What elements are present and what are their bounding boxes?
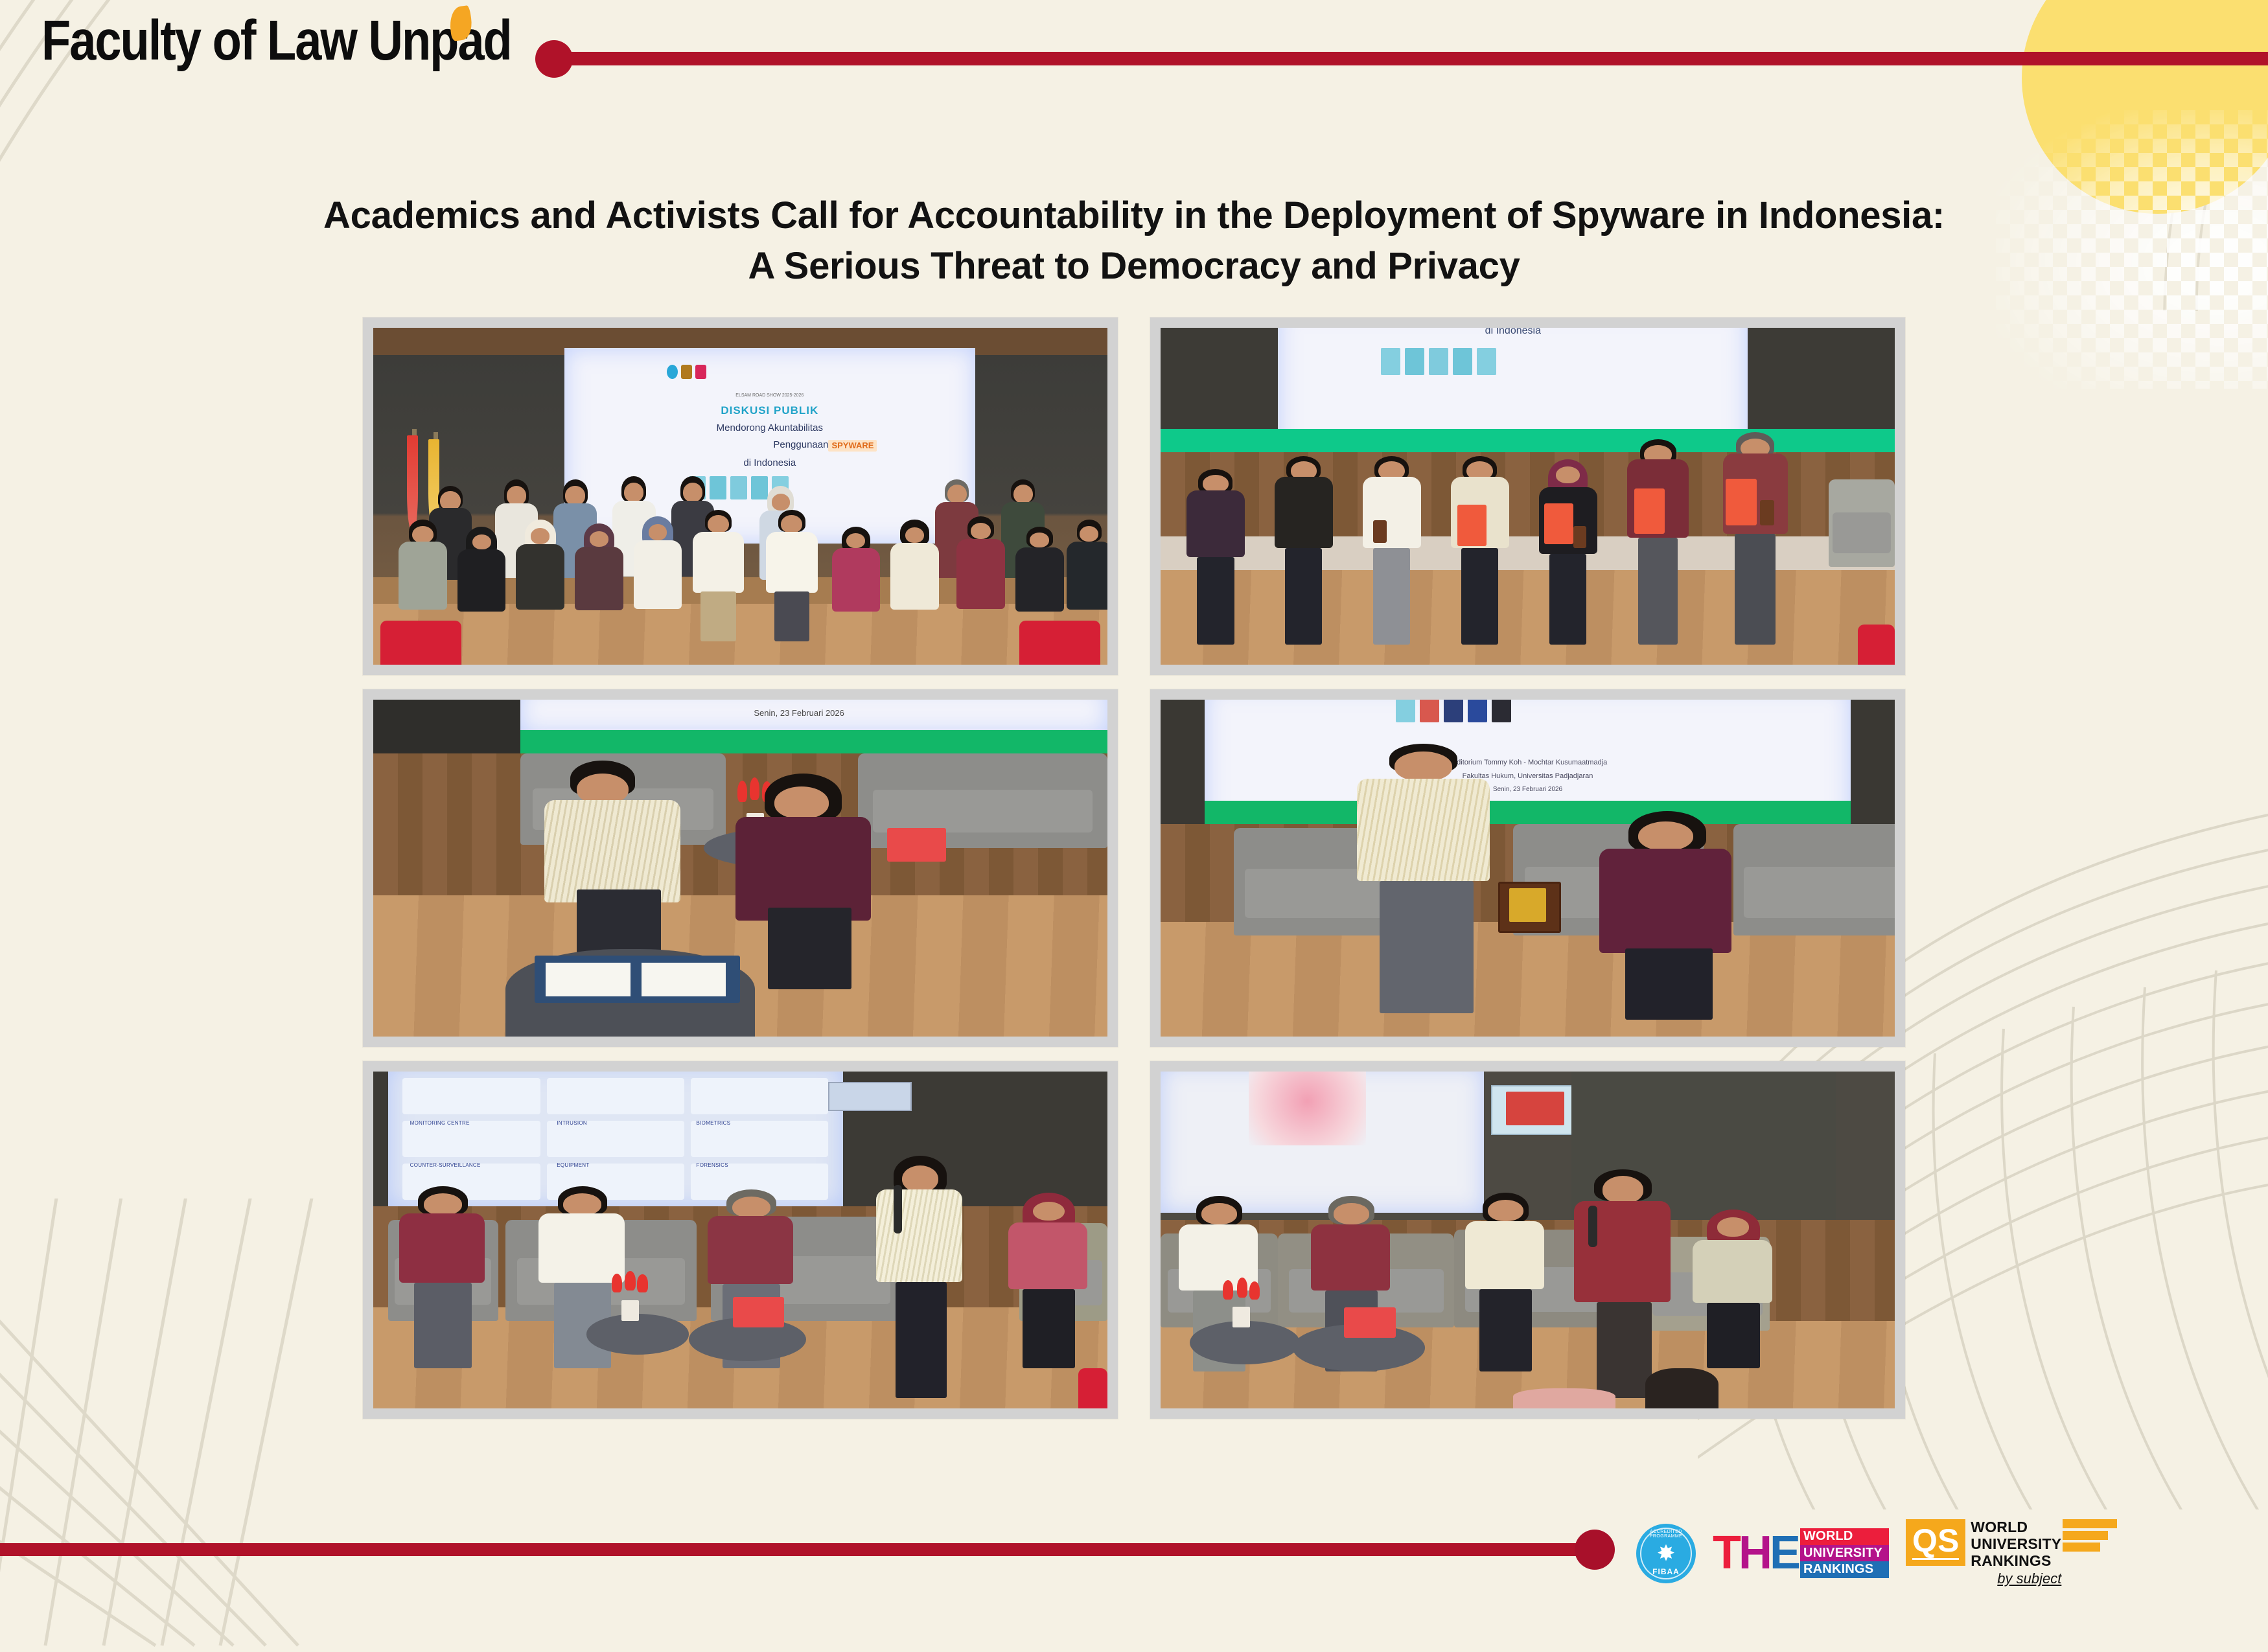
- slide-item-forensics: FORENSICS: [697, 1162, 728, 1169]
- footer-red-dot-icon: [1575, 1530, 1615, 1570]
- slide-item-equipment: EQUIPMENT: [557, 1162, 589, 1169]
- microphone-icon: [894, 1185, 902, 1233]
- the-letter-e: E: [1770, 1533, 1798, 1574]
- red-chair: [380, 621, 461, 665]
- slide-highlight-spyware: SPYWARE: [828, 440, 877, 452]
- qs-line-university: UNIVERSITY: [1971, 1536, 2061, 1553]
- photo-speakers-certificates: di Indonesia: [1161, 328, 1895, 665]
- plaque-icon: [1760, 500, 1775, 525]
- plaque-icon: [1573, 526, 1586, 548]
- the-line-rankings: RANKINGS: [1800, 1561, 1889, 1578]
- slide-venue-line-1: Auditorium Tommy Koh - Mochtar Kusumaatm…: [1205, 759, 1851, 768]
- slide-date: Senin, 23 Februari 2026: [1205, 786, 1851, 794]
- slide-line-2: Penggunaan: [564, 439, 829, 452]
- microphone-icon: [1588, 1206, 1597, 1247]
- photo-mou-signing: Senin, 23 Februari 2026: [373, 700, 1107, 1037]
- moderator: [872, 1156, 967, 1398]
- the-letter-t: T: [1713, 1533, 1739, 1574]
- red-chair: [1019, 621, 1100, 665]
- plaque-icon: [1373, 520, 1386, 543]
- fibaa-logo: ACCREDITED PROGRAMME ✸ FIBAA: [1636, 1524, 1696, 1583]
- the-wordmark: T H E: [1713, 1533, 1798, 1574]
- certificate-folder-icon: [1544, 503, 1573, 544]
- slide-line-1: Mendorong Akuntabilitas: [564, 422, 975, 435]
- slide-line-3: di Indonesia: [564, 457, 975, 470]
- photo-frame-speakers-certificates[interactable]: di Indonesia: [1150, 317, 1905, 675]
- header-rule: [565, 52, 2268, 65]
- photo-group-audience: ELSAM ROAD SHOW 2025-2026 DISKUSI PUBLIK…: [373, 328, 1107, 665]
- page-title-line-2: A Serious Threat to Democracy and Privac…: [0, 241, 2268, 292]
- the-line-university: UNIVERSITY: [1800, 1545, 1889, 1562]
- slide-item-monitoring-centre: MONITORING CENTRE: [410, 1120, 470, 1127]
- slide-item-intrusion: INTRUSION: [557, 1120, 587, 1127]
- slide-heading: DISKUSI PUBLIK: [564, 404, 975, 417]
- panel-speaker: [1571, 1169, 1674, 1399]
- the-letter-h: H: [1739, 1533, 1770, 1574]
- slide-venue-line-2: Fakultas Hukum, Universitas Padjadjaran: [1205, 772, 1851, 781]
- the-rankings-lines: WORLD UNIVERSITY RANKINGS: [1800, 1528, 1889, 1578]
- photo-frame-plaque-handover[interactable]: Auditorium Tommy Koh - Mochtar Kusumaatm…: [1150, 689, 1905, 1047]
- photo-panel-discussion-moderator: MONITORING CENTRE INTRUSION BIOMETRICS C…: [373, 1072, 1107, 1408]
- page-title: Academics and Activists Call for Account…: [0, 190, 2268, 291]
- page-title-line-1: Academics and Activists Call for Account…: [0, 190, 2268, 241]
- certificate-folder-icon: [1457, 505, 1487, 546]
- qs-subtitle: by subject: [1971, 1570, 2061, 1587]
- the-line-world: WORLD: [1800, 1528, 1889, 1545]
- photo-frame-panel-discussion-moderator[interactable]: MONITORING CENTRE INTRUSION BIOMETRICS C…: [363, 1061, 1118, 1419]
- photo-frame-mou-signing[interactable]: Senin, 23 Februari 2026: [363, 689, 1118, 1047]
- the-rankings-logo: T H E WORLD UNIVERSITY RANKINGS: [1713, 1528, 1889, 1578]
- fibaa-top-text: ACCREDITED PROGRAMME: [1636, 1530, 1696, 1539]
- photo-frame-panel-discussion-speaker[interactable]: [1150, 1061, 1905, 1419]
- certificate-folder-icon: [1634, 488, 1665, 534]
- footer-rule: [0, 1543, 1581, 1556]
- fibaa-name: FIBAA: [1636, 1567, 1696, 1576]
- photo-gallery: ELSAM ROAD SHOW 2025-2026 DISKUSI PUBLIK…: [363, 317, 1905, 1419]
- qs-bars-decoration: [2063, 1519, 2117, 1552]
- slide-date: Senin, 23 Februari 2026: [520, 708, 1078, 718]
- certificate-folder-icon: [1726, 479, 1757, 525]
- photo-frame-group-audience[interactable]: ELSAM ROAD SHOW 2025-2026 DISKUSI PUBLIK…: [363, 317, 1118, 675]
- slide-line-3: di Indonesia: [1278, 328, 1748, 338]
- slide-item-biometrics: BIOMETRICS: [697, 1120, 731, 1127]
- qs-text-block: WORLD UNIVERSITY RANKINGS by subject: [1971, 1519, 2061, 1587]
- slide-eyebrow: ELSAM ROAD SHOW 2025-2026: [564, 393, 975, 399]
- qs-rankings-logo: QS WORLD UNIVERSITY RANKINGS by subject: [1906, 1519, 2061, 1587]
- qs-line-world: WORLD: [1971, 1519, 2061, 1536]
- brand-wordmark: Faculty of Law Unpad: [41, 8, 511, 73]
- qs-line-rankings: RANKINGS: [1971, 1553, 2061, 1570]
- photo-plaque-handover: Auditorium Tommy Koh - Mochtar Kusumaatm…: [1161, 700, 1895, 1037]
- accreditation-logos: ACCREDITED PROGRAMME ✸ FIBAA T H E WORLD…: [1636, 1519, 2061, 1587]
- page-header: Faculty of Law Unpad: [0, 0, 2268, 71]
- qs-mark: QS: [1906, 1519, 1965, 1566]
- slide-item-counter-surveillance: COUNTER-SURVEILLANCE: [410, 1162, 481, 1169]
- photo-panel-discussion-speaker: [1161, 1072, 1895, 1408]
